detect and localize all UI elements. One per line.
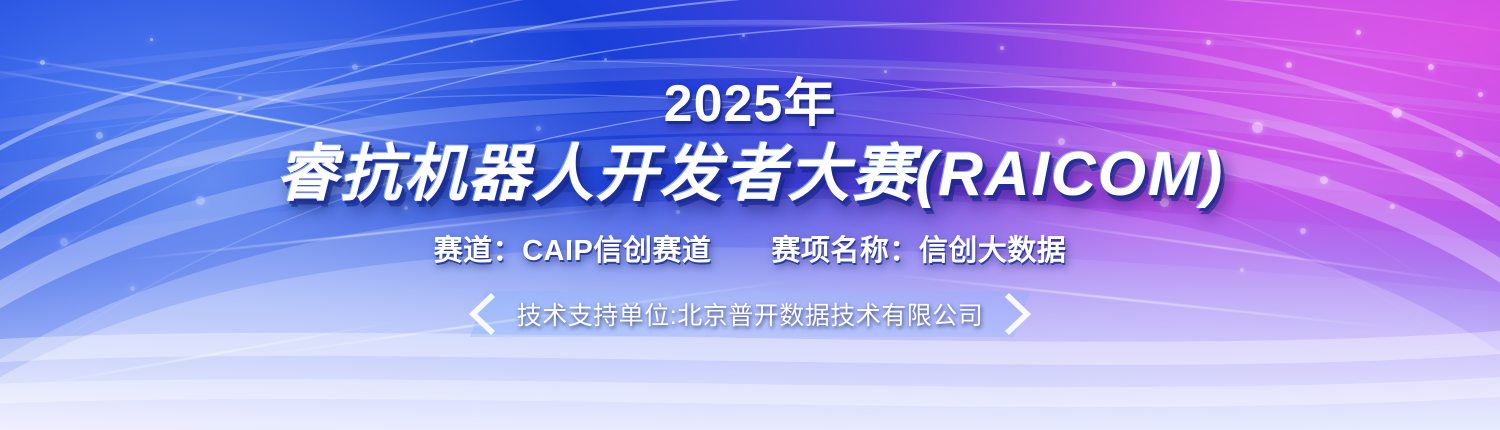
chevron-left-icon	[469, 291, 495, 337]
page-title: 睿抗机器人开发者大赛(RAICOM)	[276, 142, 1225, 207]
chevron-right-icon	[1005, 291, 1031, 337]
track-info-row: 赛道：CAIP信创赛道 赛项名称：信创大数据	[434, 227, 1067, 269]
year-title: 2025年	[664, 78, 837, 130]
event-name-label: 赛项名称：信创大数据	[771, 227, 1066, 269]
track-label: 赛道：CAIP信创赛道	[434, 227, 712, 269]
event-banner: 2025年 睿抗机器人开发者大赛(RAICOM) 赛道：CAIP信创赛道 赛项名…	[0, 0, 1500, 430]
banner-content: 2025年 睿抗机器人开发者大赛(RAICOM) 赛道：CAIP信创赛道 赛项名…	[0, 0, 1500, 430]
support-bar: 技术支持单位:北京普开数据技术有限公司	[469, 291, 1031, 337]
support-unit-text: 技术支持单位:北京普开数据技术有限公司	[517, 296, 983, 332]
